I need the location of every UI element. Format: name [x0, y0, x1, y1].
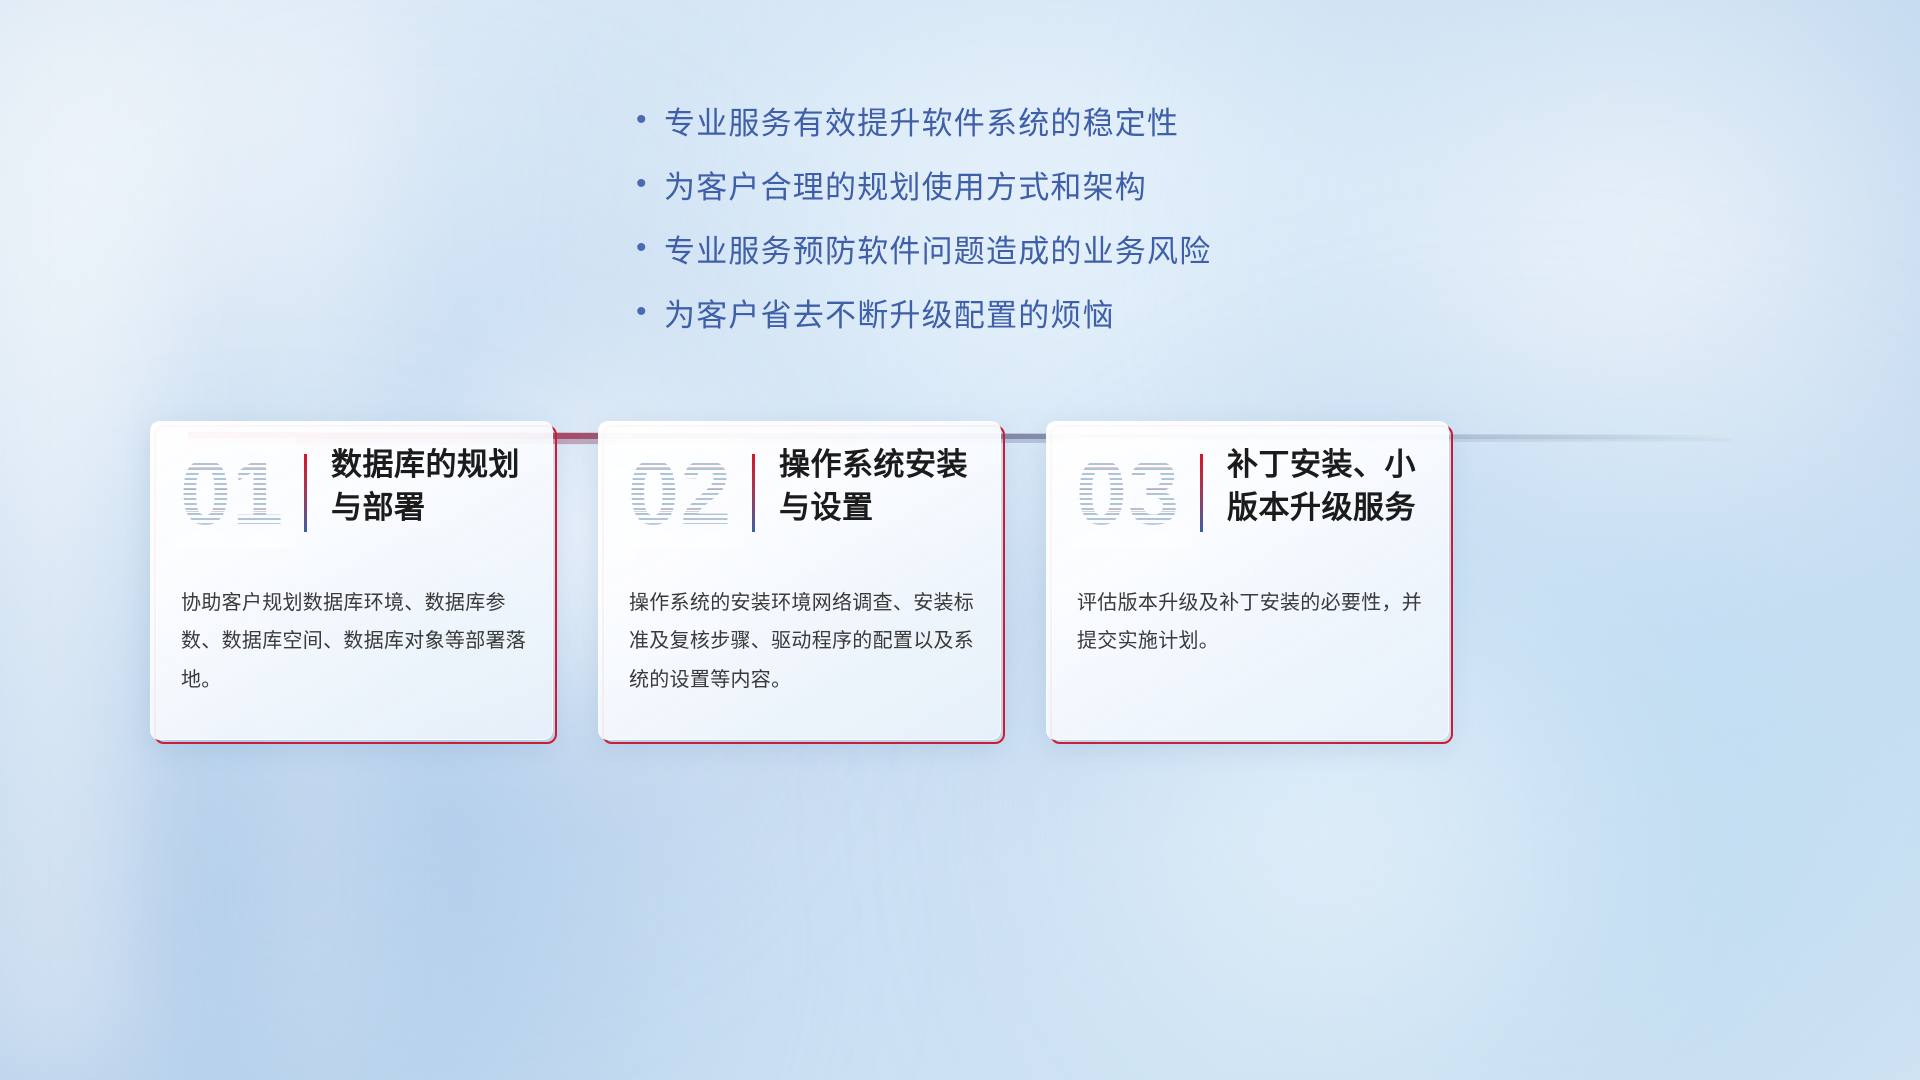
card-title: 补丁安装、小版本升级服务	[1227, 444, 1437, 530]
bullet-text: 专业服务预防软件问题造成的业务风险	[664, 226, 1211, 271]
card-number-glyph-tint: 02	[617, 438, 743, 548]
service-card-02[interactable]: 02 02 操作系统安装与设置 操作系统的安装环境网络调查、安装标准及复核步骤、…	[598, 421, 1001, 740]
card-title: 数据库的规划与部署	[331, 444, 541, 530]
bullet-dot-icon: •	[630, 233, 664, 263]
list-item: • 专业服务有效提升软件系统的稳定性	[630, 88, 1290, 152]
list-item: • 专业服务预防软件问题造成的业务风险	[630, 216, 1290, 280]
benefits-bullet-list: • 专业服务有效提升软件系统的稳定性 • 为客户合理的规划使用方式和架构 • 专…	[0, 88, 1920, 344]
card-title: 操作系统安装与设置	[779, 444, 989, 530]
card-title-accent-bar	[304, 454, 307, 532]
bullet-text: 专业服务有效提升软件系统的稳定性	[664, 98, 1179, 143]
bullet-dot-icon: •	[630, 297, 664, 327]
card-header: 02 02 操作系统安装与设置	[599, 422, 1000, 572]
bullet-dot-icon: •	[630, 105, 664, 135]
card-number-watermark: 03 03	[1065, 438, 1191, 548]
card-surface: 03 03 补丁安装、小版本升级服务 评估版本升级及补丁安装的必要性，并提交实施…	[1046, 421, 1449, 740]
card-number-glyph-tint: 01	[169, 438, 295, 548]
list-item: • 为客户合理的规划使用方式和架构	[630, 152, 1290, 216]
card-number-watermark: 01 01	[169, 438, 295, 548]
bullet-text: 为客户省去不断升级配置的烦恼	[664, 290, 1115, 335]
card-body-text: 协助客户规划数据库环境、数据库参数、数据库空间、数据库对象等部署落地。	[181, 584, 528, 699]
bullet-text: 为客户合理的规划使用方式和架构	[664, 162, 1147, 207]
card-surface: 02 02 操作系统安装与设置 操作系统的安装环境网络调查、安装标准及复核步骤、…	[598, 421, 1001, 740]
card-surface: 01 01 数据库的规划与部署 协助客户规划数据库环境、数据库参数、数据库空间、…	[150, 421, 553, 740]
card-number-watermark: 02 02	[617, 438, 743, 548]
service-card-01[interactable]: 01 01 数据库的规划与部署 协助客户规划数据库环境、数据库参数、数据库空间、…	[150, 421, 553, 740]
card-title-accent-bar	[752, 454, 755, 532]
card-header: 03 03 补丁安装、小版本升级服务	[1047, 422, 1448, 572]
bullet-dot-icon: •	[630, 169, 664, 199]
list-item: • 为客户省去不断升级配置的烦恼	[630, 280, 1290, 344]
card-number-glyph-tint: 03	[1065, 438, 1191, 548]
card-body-text: 评估版本升级及补丁安装的必要性，并提交实施计划。	[1077, 584, 1424, 661]
card-header: 01 01 数据库的规划与部署	[151, 422, 552, 572]
service-card-03[interactable]: 03 03 补丁安装、小版本升级服务 评估版本升级及补丁安装的必要性，并提交实施…	[1046, 421, 1449, 740]
service-card-list: 01 01 数据库的规划与部署 协助客户规划数据库环境、数据库参数、数据库空间、…	[150, 421, 1770, 941]
card-body-text: 操作系统的安装环境网络调查、安装标准及复核步骤、驱动程序的配置以及系统的设置等内…	[629, 584, 976, 699]
card-title-accent-bar	[1200, 454, 1203, 532]
